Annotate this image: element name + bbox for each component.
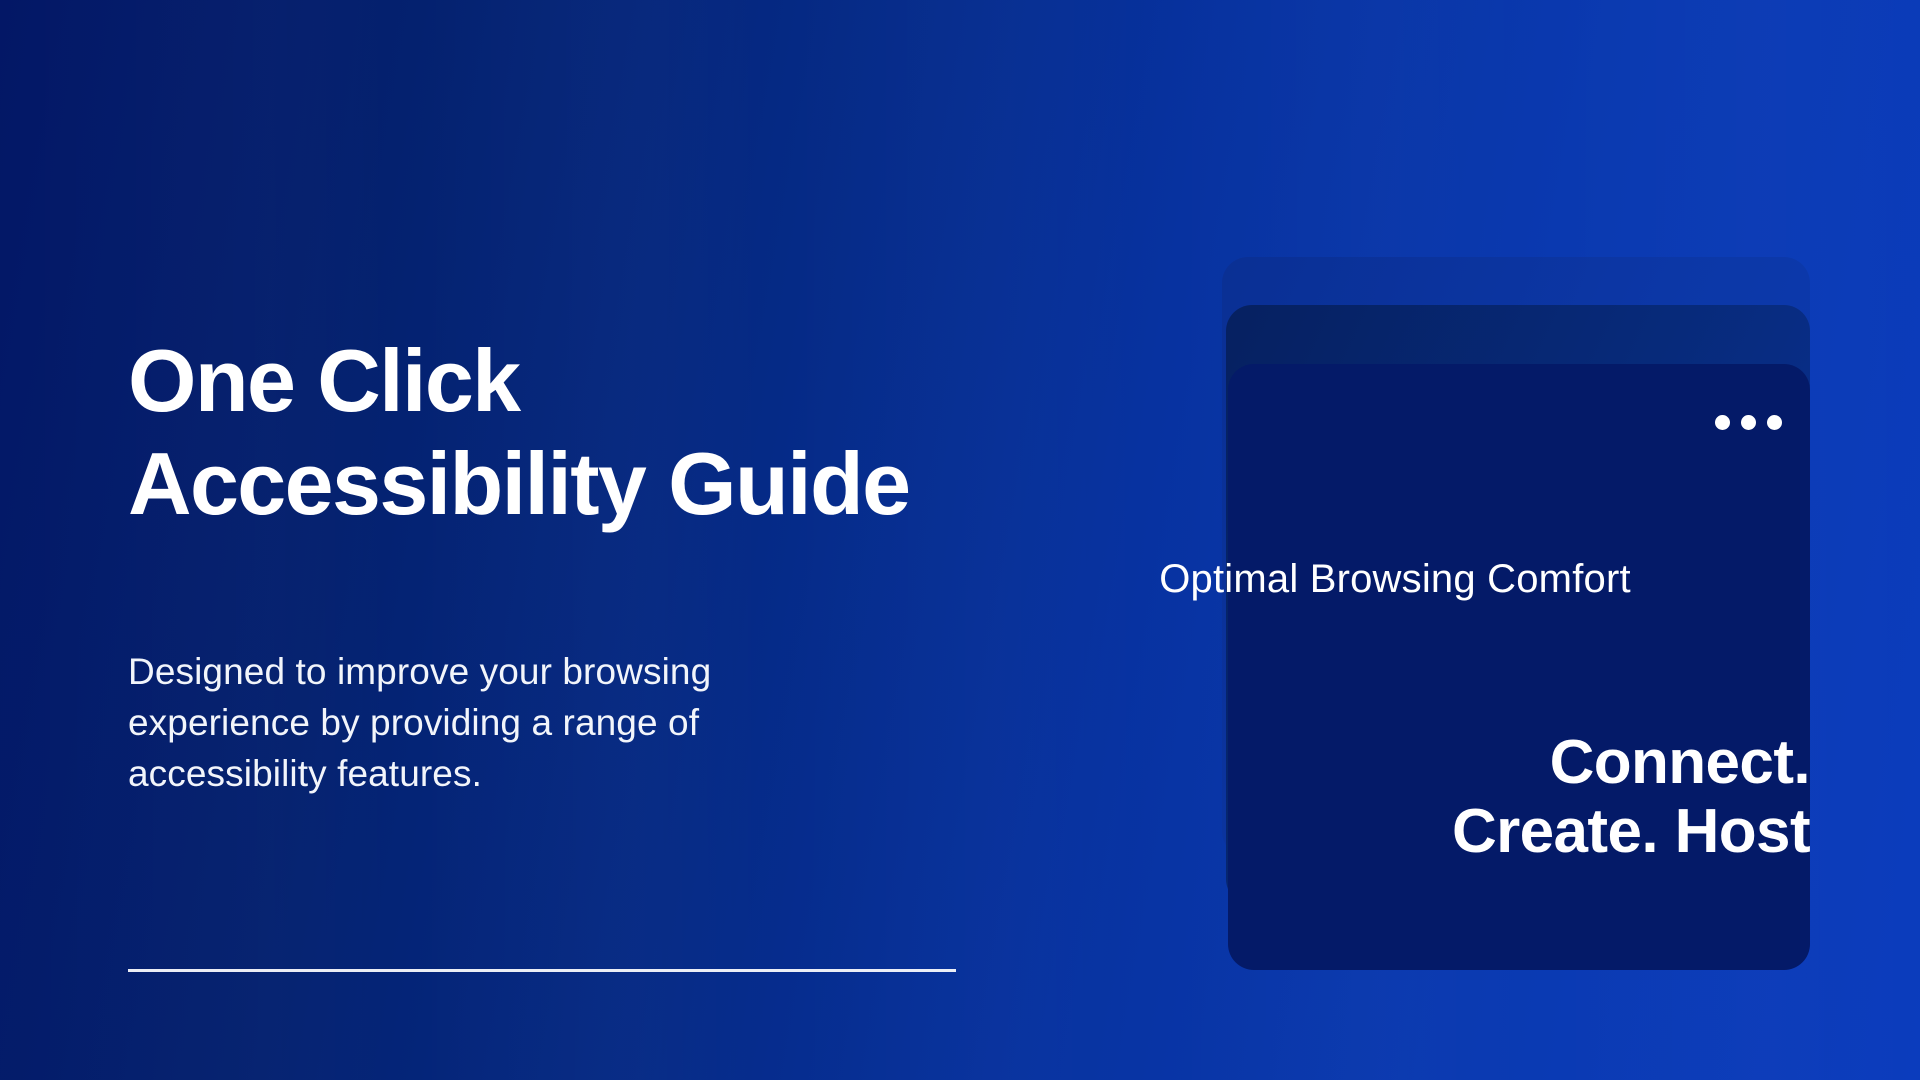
page-subcopy: Designed to improve your browsing experi…: [128, 646, 868, 799]
ellipsis-icon[interactable]: [1715, 415, 1782, 430]
page-title: One Click Accessibility Guide: [128, 330, 988, 536]
left-content-column: One Click Accessibility Guide Designed t…: [128, 330, 988, 536]
card-front-layer[interactable]: [1228, 364, 1810, 970]
card-caption: Connect. Create. Host: [1250, 728, 1810, 867]
card-caption-wrap: Connect. Create. Host: [1250, 728, 1810, 867]
ellipsis-dot: [1715, 415, 1730, 430]
slide-canvas: One Click Accessibility Guide Designed t…: [0, 0, 1920, 1080]
tooltip-banner[interactable]: Optimal Browsing Comfort: [1060, 502, 1730, 657]
ellipsis-dot: [1767, 415, 1782, 430]
ellipsis-dot: [1741, 415, 1756, 430]
divider-rule: [128, 969, 956, 972]
tooltip-label: Optimal Browsing Comfort: [1159, 557, 1631, 602]
